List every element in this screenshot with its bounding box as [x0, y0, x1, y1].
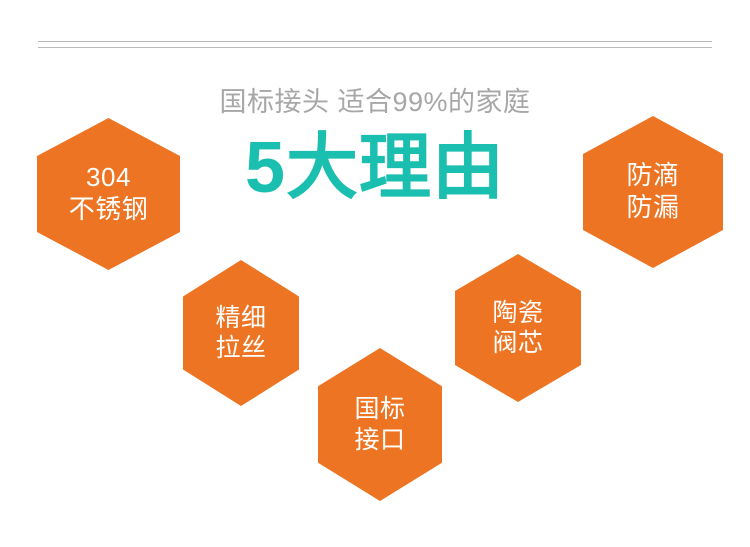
hexagon-badge-ceramic-valve[interactable]: 陶瓷 阀芯 — [455, 254, 581, 402]
hexagon-badge-standard-interface[interactable]: 国标 接口 — [318, 348, 442, 501]
hexagon-label: 防滴 防漏 — [626, 160, 679, 223]
slide-canvas: 国标接头 适合99%的家庭 5大理由 304 不锈钢 精细 拉丝 国标 接口 陶… — [0, 0, 750, 547]
hexagon-badge-anti-drip-leak[interactable]: 防滴 防漏 — [583, 116, 723, 268]
hexagon-label: 陶瓷 阀芯 — [492, 298, 543, 359]
hexagon-group: 304 不锈钢 精细 拉丝 国标 接口 陶瓷 阀芯 防滴 防漏 — [0, 0, 750, 547]
hexagon-badge-fine-brushed[interactable]: 精细 拉丝 — [183, 260, 299, 406]
hexagon-label: 国标 接口 — [354, 394, 405, 455]
hexagon-badge-304-stainless[interactable]: 304 不锈钢 — [37, 118, 180, 270]
hexagon-label: 304 不锈钢 — [69, 162, 149, 225]
hexagon-label: 精细 拉丝 — [215, 303, 266, 364]
